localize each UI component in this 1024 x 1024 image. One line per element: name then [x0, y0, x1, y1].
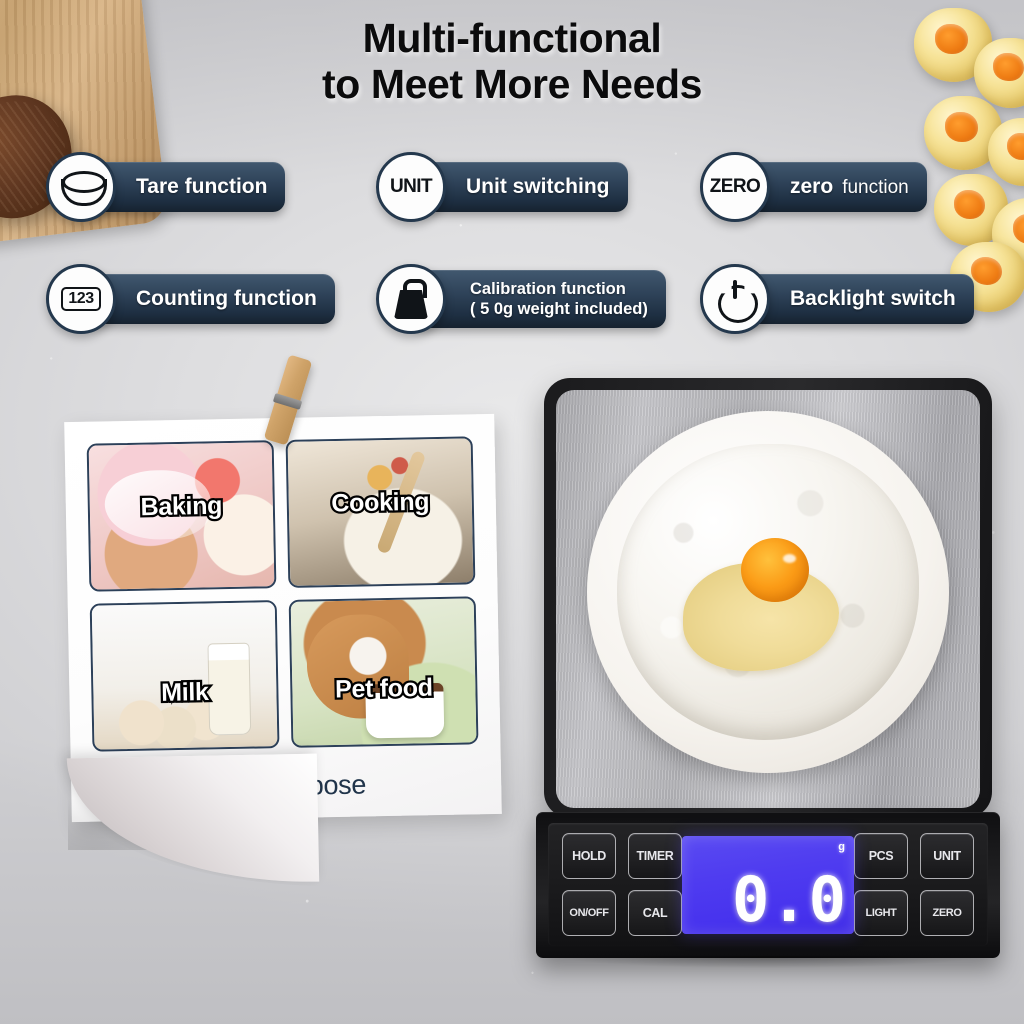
- plate: [587, 411, 949, 773]
- zero-icon-text: ZERO: [710, 176, 760, 198]
- scale-shadow: [560, 956, 976, 968]
- timer-button[interactable]: TIMER: [628, 833, 682, 879]
- counting-icon-text: 123: [61, 287, 100, 311]
- feature-pill: Calibration function ( 5 0g weight inclu…: [412, 270, 666, 328]
- calibration-weight-icon: [376, 264, 446, 334]
- photo-tile-petfood[interactable]: Pet food: [289, 596, 479, 748]
- scale-control-panel: HOLD TIMER ON/OFF CAL g 0.0 PCS UNIT LIG…: [536, 812, 1000, 958]
- onoff-button[interactable]: ON/OFF: [562, 890, 616, 936]
- feature-badge-unit[interactable]: UNIT Unit switching: [376, 150, 628, 224]
- left-button-group: HOLD TIMER ON/OFF CAL: [562, 833, 682, 936]
- tile-label: Cooking: [289, 487, 473, 520]
- feature-label-strong: zero: [790, 175, 833, 199]
- photo-tile-milk[interactable]: Milk: [90, 600, 280, 752]
- feature-pill: Counting function: [82, 274, 335, 324]
- unit-button[interactable]: UNIT: [920, 833, 974, 879]
- right-button-group: PCS UNIT LIGHT ZERO: [854, 833, 974, 936]
- power-icon: [700, 264, 770, 334]
- kitchen-scale: HOLD TIMER ON/OFF CAL g 0.0 PCS UNIT LIG…: [536, 378, 1000, 968]
- feature-label: Backlight switch: [790, 287, 956, 311]
- tile-label: Pet food: [292, 673, 476, 706]
- paper-peel-corner: [67, 754, 319, 887]
- tare-bowl-icon: [46, 152, 116, 222]
- headline-line-1: Multi-functional: [0, 16, 1024, 62]
- photo-tile-grid: Baking Cooking Milk Pet food: [87, 436, 479, 751]
- headline-line-2: to Meet More Needs: [0, 62, 1024, 108]
- photo-tile-cooking[interactable]: Cooking: [286, 436, 476, 588]
- lcd-unit-label: g: [838, 841, 845, 853]
- feature-pill: Backlight switch: [736, 274, 974, 324]
- feature-badge-counting[interactable]: 123 Counting function: [46, 262, 335, 336]
- zero-button[interactable]: ZERO: [920, 890, 974, 936]
- feature-label: Tare function: [136, 175, 267, 199]
- feature-badge-backlight[interactable]: Backlight switch: [700, 262, 974, 336]
- feature-label-thin: function: [842, 177, 909, 199]
- lcd-display: g 0.0: [682, 836, 854, 934]
- tile-label: Baking: [90, 491, 274, 524]
- pcs-button[interactable]: PCS: [854, 833, 908, 879]
- milk-photo: [92, 602, 278, 749]
- feature-badge-zero[interactable]: ZERO zero function: [700, 150, 927, 224]
- tile-label: Milk: [93, 677, 277, 710]
- feature-badge-calibration[interactable]: Calibration function ( 5 0g weight inclu…: [376, 262, 666, 336]
- counting-123-icon: 123: [46, 264, 116, 334]
- feature-label: Counting function: [136, 287, 317, 311]
- unit-icon-text: UNIT: [390, 176, 432, 198]
- feature-badge-tare[interactable]: Tare function: [46, 150, 285, 224]
- petfood-photo: [291, 598, 477, 745]
- unit-text-icon: UNIT: [376, 152, 446, 222]
- feature-label: Unit switching: [466, 175, 610, 199]
- cal-button[interactable]: CAL: [628, 890, 682, 936]
- photo-tile-baking[interactable]: Baking: [87, 440, 277, 592]
- page-title: Multi-functional to Meet More Needs: [0, 16, 1024, 107]
- feature-row-1: Tare function UNIT Unit switching ZERO z…: [0, 150, 1024, 224]
- zero-text-icon: ZERO: [700, 152, 770, 222]
- feature-row-2: 123 Counting function Calibration functi…: [0, 262, 1024, 336]
- lcd-weight-value: 0.0: [732, 869, 847, 931]
- scale-platform: [544, 378, 992, 818]
- feature-label-line-2: ( 5 0g weight included): [470, 299, 648, 319]
- feature-label-line-1: Calibration function: [470, 279, 626, 299]
- egg-yolk: [741, 538, 809, 602]
- control-panel-inner: HOLD TIMER ON/OFF CAL g 0.0 PCS UNIT LIG…: [548, 823, 988, 946]
- light-button[interactable]: LIGHT: [854, 890, 908, 936]
- hold-button[interactable]: HOLD: [562, 833, 616, 879]
